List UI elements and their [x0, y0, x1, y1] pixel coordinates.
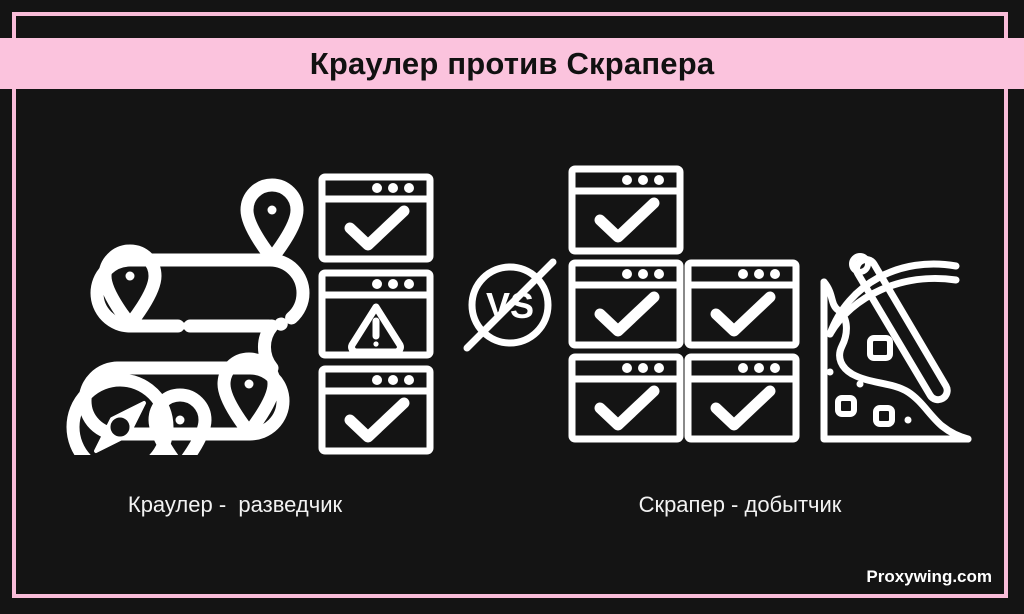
crawler-result-windows [318, 173, 434, 455]
brand-watermark: Proxywing.com [866, 567, 992, 587]
check-icon [600, 203, 654, 237]
ore-chunk [876, 408, 892, 424]
pickaxe-mining-icon [808, 250, 974, 455]
page-title: Краулер против Скрапера [310, 46, 715, 82]
caption-scraper: Скрапер - добытчик [505, 492, 975, 518]
check-icon [350, 211, 404, 245]
illustration-stage: VS [0, 95, 1024, 485]
browser-window-check [688, 263, 796, 345]
browser-window-check [688, 357, 796, 439]
browser-window-check [322, 177, 430, 259]
infographic-canvas: Краулер против Скрапера [0, 0, 1024, 614]
vs-badge-label: VS [486, 285, 534, 326]
warning-triangle-icon [352, 307, 401, 352]
scraper-result-windows [568, 165, 800, 455]
check-icon [600, 297, 654, 331]
ore-chunk [870, 338, 890, 358]
caption-crawler: Краулер - разведчик [0, 492, 470, 518]
ore-pebble [905, 417, 912, 424]
check-icon [600, 391, 654, 425]
check-icon [350, 403, 404, 437]
vs-badge: VS [455, 250, 565, 360]
check-icon [716, 391, 770, 425]
ore-chunk [838, 398, 854, 414]
ore-pebble [827, 369, 834, 376]
browser-window-warning [322, 273, 430, 355]
browser-window-check [572, 263, 680, 345]
check-icon [716, 297, 770, 331]
browser-window-check [572, 357, 680, 439]
title-banner: Краулер против Скрапера [0, 38, 1024, 89]
browser-window-check [322, 369, 430, 451]
ore-pebble [857, 381, 864, 388]
crawler-route-map-icon [60, 155, 320, 455]
browser-window-check [572, 169, 680, 251]
map-pin-icon [247, 185, 297, 258]
